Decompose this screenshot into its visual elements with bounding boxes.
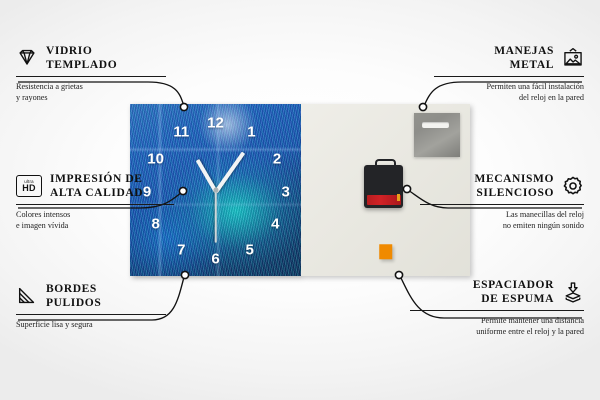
- clock-numeral-12: 12: [207, 115, 224, 130]
- foam-spacer-arrow-icon: [562, 281, 584, 303]
- callout-desc-line1: Permiten una fácil instalación: [434, 81, 584, 92]
- callout-title-line2: ALTA CALIDAD: [50, 186, 143, 200]
- callout-desc-line2: no emiten ningún sonido: [420, 220, 584, 231]
- callout-divider: [434, 76, 584, 77]
- callout-desc-line2: e imagen vívida: [16, 220, 174, 231]
- callout-title-line2: METAL: [494, 58, 554, 72]
- battery-terminal: [397, 194, 400, 201]
- gear-icon: [562, 175, 584, 197]
- callout-desc-line1: Permite mantener una distancia: [410, 315, 584, 326]
- callout-header: ESPACIADOR DE ESPUMA: [410, 278, 584, 307]
- clock-numeral-1: 1: [247, 124, 255, 139]
- metal-hanger-plate: [414, 113, 460, 158]
- callout-title-line1: MECANISMO: [474, 172, 554, 186]
- infographic-canvas: 12 1 2 3 4 5 6 7 8 9 10 11: [0, 0, 600, 400]
- callout-title-line1: BORDES: [46, 282, 101, 296]
- foam-spacer-pad: [379, 244, 393, 259]
- ultra-hd-badge-bottom-text: HD: [22, 184, 36, 193]
- mechanism-hanger-tab: [375, 159, 396, 167]
- clock-numeral-11: 11: [173, 124, 189, 139]
- picture-hanger-icon: [562, 47, 584, 69]
- battery: [367, 195, 401, 204]
- callout-header: ultra HD IMPRESIÓN DE ALTA CALIDAD: [16, 172, 174, 201]
- callout-manejas-metal: MANEJAS METAL Permiten una fácil instala…: [434, 44, 584, 103]
- callout-vidrio-templado: VIDRIO TEMPLADO Resistencia a grietas y …: [16, 44, 166, 103]
- callout-desc-line2: uniforme entre el reloj y la pared: [410, 326, 584, 337]
- ultra-hd-badge-icon: ultra HD: [16, 175, 42, 197]
- callout-mecanismo-silencioso: MECANISMO SILENCIOSO Las manecillas del …: [420, 172, 584, 231]
- clock-numeral-6: 6: [211, 251, 219, 266]
- callout-desc-line2: del reloj en la pared: [434, 92, 584, 103]
- callout-title-line1: ESPACIADOR: [473, 278, 554, 292]
- clock-hand-cap: [213, 188, 218, 193]
- callout-divider: [420, 204, 584, 205]
- clock-numeral-2: 2: [273, 152, 281, 167]
- callout-desc-line1: Resistencia a grietas: [16, 81, 166, 92]
- callout-title-line1: IMPRESIÓN DE: [50, 172, 143, 186]
- callout-divider: [410, 310, 584, 311]
- callout-divider: [16, 314, 166, 315]
- callout-header: VIDRIO TEMPLADO: [16, 44, 166, 73]
- callout-desc-line2: y rayones: [16, 92, 166, 103]
- callout-header: MECANISMO SILENCIOSO: [420, 172, 584, 201]
- clock-numeral-5: 5: [246, 243, 254, 258]
- callout-desc-line1: Colores intensos: [16, 209, 174, 220]
- clock-numeral-10: 10: [147, 152, 164, 167]
- clock-numeral-7: 7: [177, 243, 185, 258]
- hanger-keyhole-slot: [422, 122, 448, 127]
- quartz-mechanism: [364, 165, 403, 208]
- clock-second-hand: [215, 191, 217, 243]
- callout-espaciador-de-espuma: ESPACIADOR DE ESPUMA Permite mantener un…: [410, 278, 584, 337]
- callout-title-line2: PULIDOS: [46, 296, 101, 310]
- callout-header: BORDES PULIDOS: [16, 282, 166, 311]
- polished-edge-hatch-icon: [16, 285, 38, 307]
- callout-divider: [16, 204, 174, 205]
- callout-divider: [16, 76, 166, 77]
- callout-title-line2: TEMPLADO: [46, 58, 117, 72]
- callout-desc-line1: Superficie lisa y segura: [16, 319, 166, 330]
- callout-desc-line1: Las manecillas del reloj: [420, 209, 584, 220]
- clock-numeral-4: 4: [271, 217, 279, 232]
- callout-title-line1: VIDRIO: [46, 44, 117, 58]
- callout-header: MANEJAS METAL: [434, 44, 584, 73]
- callout-title-line1: MANEJAS: [494, 44, 554, 58]
- diamond-icon: [16, 47, 38, 69]
- product-image-group: 12 1 2 3 4 5 6 7 8 9 10 11: [130, 104, 470, 276]
- callout-bordes-pulidos: BORDES PULIDOS Superficie lisa y segura: [16, 282, 166, 330]
- callout-title-line2: DE ESPUMA: [473, 292, 554, 306]
- clock-numeral-3: 3: [281, 184, 289, 199]
- callout-impresion-alta-calidad: ultra HD IMPRESIÓN DE ALTA CALIDAD Color…: [16, 172, 174, 231]
- callout-title-line2: SILENCIOSO: [474, 186, 554, 200]
